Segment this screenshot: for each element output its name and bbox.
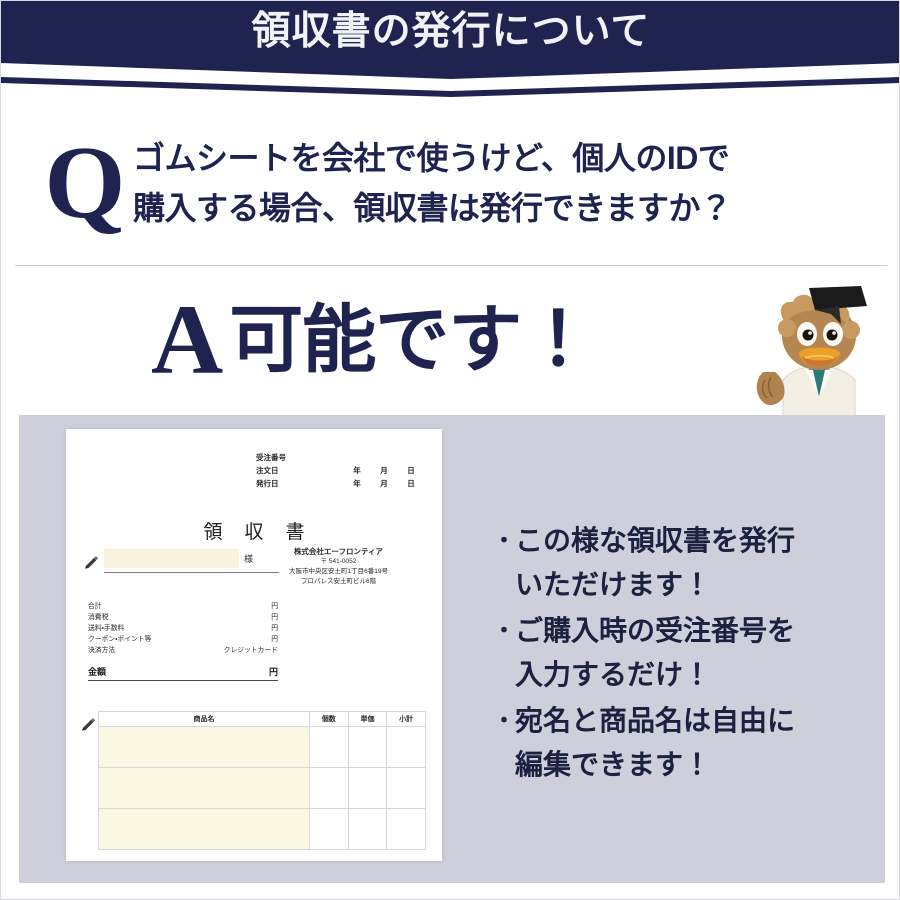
receipt-meta-row: 注文日 年 月 日 xyxy=(256,464,431,477)
table-header-row: 商品名 個数 単価 小計 xyxy=(99,712,426,727)
question-text: ゴムシートを会社で使うけど、個人のIDで 購入する場合、領収書は発行できますか？ xyxy=(133,133,869,233)
bullet-line-1: ご購入時の受注番号を xyxy=(515,615,795,646)
order-date-value: 年 月 日 xyxy=(334,465,420,476)
order-date-month: 月 xyxy=(375,465,393,476)
receipt-preview-card: 受注番号 注文日 年 月 日 発行日 年 月 xyxy=(66,429,442,861)
summary-label: 消費税 xyxy=(88,611,108,621)
column-header-quantity: 個数 xyxy=(309,712,348,727)
pencil-icon xyxy=(83,555,99,571)
cell-subtotal[interactable] xyxy=(387,809,426,850)
table-row xyxy=(99,809,426,850)
issue-date-value: 年 月 日 xyxy=(334,478,420,489)
cell-unit-price[interactable] xyxy=(348,809,387,850)
page-title: 領収書の発行について xyxy=(1,9,900,55)
bullet-line-2: 入力するだけ！ xyxy=(515,653,873,697)
list-item: ・ 宛名と商品名は自由に 編集できます！ xyxy=(493,699,873,787)
column-header-product-name: 商品名 xyxy=(99,712,310,727)
cell-product-name[interactable] xyxy=(99,809,310,850)
company-address-line-2: プロパレス安土町ビル6階 xyxy=(251,577,426,587)
addressee-input[interactable] xyxy=(104,549,239,568)
bullet-text: 宛名と商品名は自由に 編集できます！ xyxy=(515,699,873,787)
bullet-line-2: いただけます！ xyxy=(515,563,873,607)
amount-label: 金額 xyxy=(88,665,106,678)
bullet-line-1: この様な領収書を発行 xyxy=(515,525,795,556)
summary-value: 円 xyxy=(271,611,278,621)
summary-value: 円 xyxy=(271,633,278,643)
issuer-company-block: 株式会社エーフロンティア 〒 541-0052 大阪市中央区安土町1丁目6番19… xyxy=(251,547,426,587)
cell-product-name[interactable] xyxy=(99,727,310,768)
cell-subtotal[interactable] xyxy=(387,727,426,768)
list-item: ・ ご購入時の受注番号を 入力するだけ！ xyxy=(493,609,873,697)
amount-underline xyxy=(88,680,278,681)
column-header-subtotal: 小計 xyxy=(387,712,426,727)
amount-value: 円 xyxy=(269,665,278,678)
feature-bullet-list: ・ この様な領収書を発行 いただけます！ ・ ご購入時の受注番号を 入力するだけ… xyxy=(493,519,873,789)
order-date-label: 注文日 xyxy=(256,465,334,476)
receipt-meta-row: 発行日 年 月 日 xyxy=(256,477,431,490)
qa-divider xyxy=(15,265,887,266)
receipt-meta-row: 受注番号 xyxy=(256,451,431,464)
company-address-line-1: 大阪市中央区安土町1丁目6番19号 xyxy=(251,567,426,577)
cell-quantity[interactable] xyxy=(309,809,348,850)
bullet-text: ご購入時の受注番号を 入力するだけ！ xyxy=(515,609,873,697)
order-date-year: 年 xyxy=(348,465,366,476)
summary-row-coupon-points: クーポン・ポイント等 円 xyxy=(88,632,278,643)
cell-quantity[interactable] xyxy=(309,727,348,768)
company-postal-code: 〒 541-0052 xyxy=(251,557,426,567)
receipt-meta-fields: 受注番号 注文日 年 月 日 発行日 年 月 xyxy=(256,451,431,490)
receipt-title: 領収書 xyxy=(66,517,442,544)
column-header-unit-price: 単価 xyxy=(348,712,387,727)
summary-value: 円 xyxy=(271,600,278,610)
bullet-dot-icon: ・ xyxy=(493,519,515,563)
issue-date-month: 月 xyxy=(375,478,393,489)
answer-text: 可能です！ xyxy=(229,297,594,383)
receipt-amount-block: 金額 円 xyxy=(88,665,278,681)
faq-infographic-page: 領収書の発行について Q ゴムシートを会社で使うけど、個人のIDで 購入する場合… xyxy=(0,0,900,900)
answer-block: A 可能です！ xyxy=(151,279,751,401)
issue-date-label: 発行日 xyxy=(256,478,334,489)
answer-marker: A xyxy=(151,290,223,390)
question-line-2: 購入する場合、領収書は発行できますか？ xyxy=(133,183,869,233)
cell-quantity[interactable] xyxy=(309,768,348,809)
summary-label: 合計 xyxy=(88,600,102,610)
bullet-line-1: 宛名と商品名は自由に xyxy=(515,705,795,736)
issue-date-year: 年 xyxy=(348,478,366,489)
order-date-day: 日 xyxy=(402,465,420,476)
receipt-items-table: 商品名 個数 単価 小計 xyxy=(98,711,426,850)
cell-unit-price[interactable] xyxy=(348,768,387,809)
bullet-text: この様な領収書を発行 いただけます！ xyxy=(515,519,873,607)
table-row xyxy=(99,727,426,768)
summary-label: 送料・手数料 xyxy=(88,622,124,632)
issue-date-day: 日 xyxy=(402,478,420,489)
bird-professor-mascot-icon xyxy=(743,284,883,419)
question-line-1: ゴムシートを会社で使うけど、個人のIDで xyxy=(133,133,869,183)
list-item: ・ この様な領収書を発行 いただけます！ xyxy=(493,519,873,607)
summary-value: 円 xyxy=(271,622,278,632)
bullet-dot-icon: ・ xyxy=(493,609,515,653)
order-number-label: 受注番号 xyxy=(256,452,334,463)
summary-row-shipping-fee: 送料・手数料 円 xyxy=(88,621,278,632)
summary-row-payment-method: 決済方法 クレジットカード xyxy=(88,643,278,654)
bullet-dot-icon: ・ xyxy=(493,699,515,743)
summary-row-total: 合計 円 xyxy=(88,599,278,610)
summary-label: クーポン・ポイント等 xyxy=(88,633,151,643)
summary-label: 決済方法 xyxy=(88,644,115,654)
cell-subtotal[interactable] xyxy=(387,768,426,809)
cell-product-name[interactable] xyxy=(99,768,310,809)
company-name: 株式会社エーフロンティア xyxy=(251,547,426,557)
amount-row: 金額 円 xyxy=(88,665,278,680)
summary-value: クレジットカード xyxy=(224,644,278,654)
receipt-summary-list: 合計 円 消費税 円 送料・手数料 円 クーポン・ポイント等 円 決済方法 クレ… xyxy=(88,599,278,654)
pencil-icon xyxy=(80,717,96,733)
bullet-line-2: 編集できます！ xyxy=(515,743,873,787)
question-marker: Q xyxy=(37,131,133,235)
header-banner-accent-chevron xyxy=(1,77,900,99)
summary-row-tax: 消費税 円 xyxy=(88,610,278,621)
header-banner: 領収書の発行について xyxy=(1,1,900,99)
question-block: Q ゴムシートを会社で使うけど、個人のIDで 購入する場合、領収書は発行できます… xyxy=(37,119,869,247)
table-row xyxy=(99,768,426,809)
cell-unit-price[interactable] xyxy=(348,727,387,768)
